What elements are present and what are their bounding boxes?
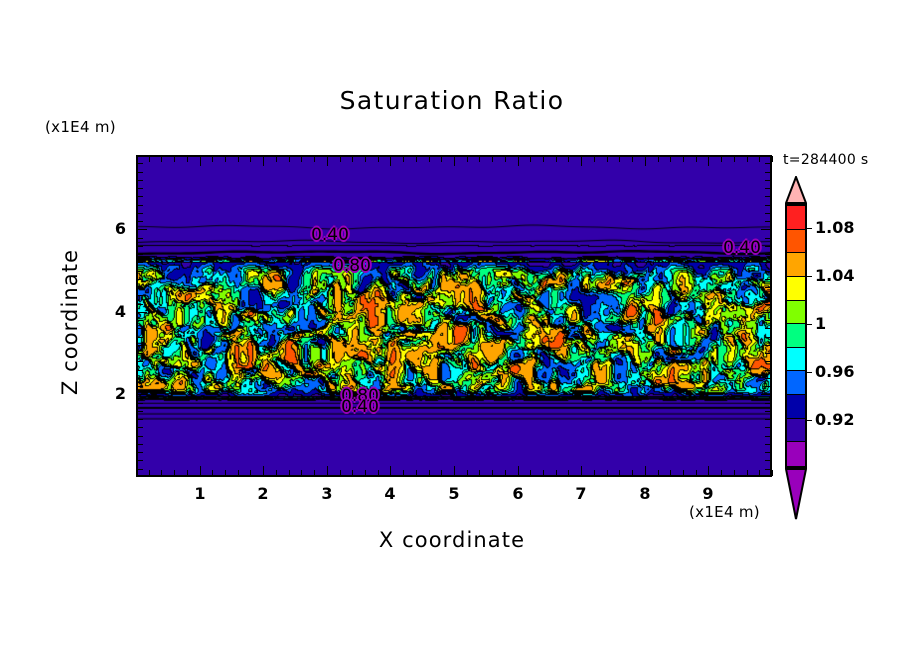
tick-x-minor — [174, 470, 175, 476]
tick-x-minor — [772, 470, 773, 476]
tick-y-minor — [137, 221, 143, 222]
tick-x-major — [708, 156, 709, 166]
tick-y-major — [137, 229, 147, 230]
tick-y-minor — [137, 469, 143, 470]
tick-x-minor — [301, 470, 302, 476]
tick-y-minor — [765, 403, 771, 404]
tick-y-minor — [137, 460, 143, 461]
tick-y-minor — [137, 295, 143, 296]
tick-y-minor — [137, 444, 143, 445]
tick-x-minor — [479, 470, 480, 476]
tick-x-minor — [721, 156, 722, 162]
tick-x-minor — [530, 156, 531, 162]
tick-x-major — [390, 156, 391, 166]
tick-y-minor — [765, 361, 771, 362]
tick-y-minor — [765, 386, 771, 387]
tick-x-minor — [403, 156, 404, 162]
tick-y-major — [761, 312, 771, 313]
tick-y-minor — [765, 419, 771, 420]
tick-y-minor — [137, 328, 143, 329]
tick-x-minor — [225, 156, 226, 162]
x-tick-label: 2 — [248, 484, 278, 503]
tick-x-minor — [683, 156, 684, 162]
tick-y-minor — [765, 337, 771, 338]
tick-y-minor — [765, 295, 771, 296]
tick-x-minor — [632, 156, 633, 162]
tick-x-minor — [658, 156, 659, 162]
tick-y-minor — [765, 262, 771, 263]
x-axis-unit-label: (x1E4 m) — [689, 503, 760, 521]
tick-x-major — [645, 466, 646, 476]
tick-x-minor — [619, 156, 620, 162]
tick-y-minor — [137, 353, 143, 354]
tick-x-minor — [416, 470, 417, 476]
tick-x-minor — [161, 156, 162, 162]
x-tick-label: 6 — [503, 484, 533, 503]
y-tick-label: 4 — [96, 302, 126, 321]
x-axis-title: X coordinate — [0, 528, 904, 552]
tick-y-minor — [765, 246, 771, 247]
tick-y-minor — [137, 345, 143, 346]
tick-y-minor — [765, 320, 771, 321]
tick-x-minor — [670, 156, 671, 162]
colorbar-band — [787, 277, 805, 301]
tick-x-minor — [429, 156, 430, 162]
tick-x-minor — [759, 470, 760, 476]
tick-y-minor — [765, 345, 771, 346]
tick-x-minor — [187, 156, 188, 162]
tick-y-minor — [765, 271, 771, 272]
tick-y-minor — [765, 254, 771, 255]
tick-x-minor — [556, 470, 557, 476]
tick-x-minor — [314, 156, 315, 162]
tick-y-minor — [137, 452, 143, 453]
tick-x-minor — [530, 470, 531, 476]
tick-y-major — [137, 394, 147, 395]
colorbar-band — [787, 419, 805, 443]
page-title: Saturation Ratio — [0, 86, 904, 115]
tick-x-minor — [378, 470, 379, 476]
x-tick-label: 3 — [312, 484, 342, 503]
tick-x-major — [518, 466, 519, 476]
tick-y-major — [761, 229, 771, 230]
tick-x-minor — [568, 156, 569, 162]
tick-x-minor — [212, 156, 213, 162]
tick-y-minor — [765, 328, 771, 329]
tick-x-minor — [696, 470, 697, 476]
tick-y-minor — [137, 419, 143, 420]
y-tick-label: 6 — [96, 219, 126, 238]
x-tick-label: 9 — [693, 484, 723, 503]
tick-y-minor — [765, 378, 771, 379]
tick-x-minor — [276, 156, 277, 162]
contour-label: 0.80 — [333, 256, 371, 276]
tick-x-minor — [479, 156, 480, 162]
x-tick-label: 1 — [185, 484, 215, 503]
tick-x-minor — [352, 156, 353, 162]
tick-x-minor — [568, 470, 569, 476]
colorbar-band — [787, 395, 805, 419]
colorbar-label: 1.04 — [815, 266, 854, 285]
tick-y-minor — [765, 287, 771, 288]
tick-x-minor — [721, 470, 722, 476]
tick-x-major — [200, 466, 201, 476]
tick-x-minor — [467, 470, 468, 476]
tick-x-minor — [505, 470, 506, 476]
tick-y-minor — [137, 403, 143, 404]
tick-x-minor — [441, 156, 442, 162]
tick-x-minor — [340, 156, 341, 162]
tick-x-minor — [543, 470, 544, 476]
tick-y-minor — [137, 378, 143, 379]
tick-y-minor — [765, 213, 771, 214]
tick-x-minor — [747, 470, 748, 476]
colorbar-tick — [807, 372, 812, 373]
tick-y-minor — [137, 254, 143, 255]
tick-y-minor — [765, 452, 771, 453]
tick-y-minor — [765, 469, 771, 470]
tick-y-minor — [137, 213, 143, 214]
tick-y-minor — [137, 361, 143, 362]
tick-y-minor — [765, 460, 771, 461]
tick-y-minor — [137, 271, 143, 272]
tick-x-minor — [352, 470, 353, 476]
tick-y-minor — [765, 238, 771, 239]
tick-x-minor — [734, 470, 735, 476]
tick-x-major — [263, 466, 264, 476]
tick-x-major — [327, 466, 328, 476]
y-axis-unit-label: (x1E4 m) — [45, 118, 116, 136]
tick-x-minor — [772, 156, 773, 162]
tick-y-minor — [137, 262, 143, 263]
tick-x-minor — [225, 470, 226, 476]
tick-x-minor — [378, 156, 379, 162]
time-annotation: t=284400 s — [783, 152, 868, 168]
tick-x-minor — [161, 470, 162, 476]
tick-y-minor — [137, 196, 143, 197]
tick-y-minor — [137, 180, 143, 181]
tick-y-minor — [137, 287, 143, 288]
tick-y-minor — [137, 436, 143, 437]
tick-y-minor — [765, 163, 771, 164]
tick-x-major — [581, 156, 582, 166]
x-tick-label: 4 — [375, 484, 405, 503]
tick-x-minor — [505, 156, 506, 162]
tick-x-minor — [365, 156, 366, 162]
tick-x-minor — [238, 156, 239, 162]
colorbar-tick — [807, 420, 812, 421]
tick-x-minor — [747, 156, 748, 162]
x-tick-label: 8 — [630, 484, 660, 503]
tick-y-major — [137, 312, 147, 313]
colorbar-tick — [807, 228, 812, 229]
tick-x-minor — [607, 470, 608, 476]
tick-x-minor — [301, 156, 302, 162]
tick-x-minor — [212, 470, 213, 476]
colorbar-label: 1.08 — [815, 218, 854, 237]
tick-y-minor — [137, 163, 143, 164]
tick-x-minor — [734, 156, 735, 162]
tick-x-minor — [607, 156, 608, 162]
tick-x-minor — [670, 470, 671, 476]
tick-x-minor — [632, 470, 633, 476]
colorbar-band — [787, 442, 805, 466]
tick-x-minor — [441, 470, 442, 476]
tick-y-minor — [765, 196, 771, 197]
colorbar-cap-top — [785, 176, 807, 204]
tick-x-minor — [289, 156, 290, 162]
tick-y-minor — [765, 444, 771, 445]
contour-label: 0.40 — [341, 397, 379, 417]
tick-y-minor — [765, 221, 771, 222]
tick-x-minor — [543, 156, 544, 162]
tick-y-minor — [765, 279, 771, 280]
y-tick-label: 2 — [96, 384, 126, 403]
colorbar-tick — [807, 276, 812, 277]
tick-x-minor — [187, 470, 188, 476]
tick-y-minor — [137, 411, 143, 412]
x-tick-label: 7 — [566, 484, 596, 503]
tick-x-minor — [556, 156, 557, 162]
tick-y-minor — [137, 320, 143, 321]
tick-y-minor — [137, 304, 143, 305]
tick-x-major — [581, 466, 582, 476]
colorbar-label: 1 — [815, 314, 826, 333]
tick-x-minor — [696, 156, 697, 162]
colorbar-band — [787, 230, 805, 254]
tick-x-minor — [492, 156, 493, 162]
colorbar-label: 0.96 — [815, 362, 854, 381]
tick-x-minor — [683, 470, 684, 476]
tick-x-minor — [289, 470, 290, 476]
tick-x-major — [645, 156, 646, 166]
figure-canvas: Saturation Ratio (x1E4 m) (x1E4 m) t=284… — [0, 0, 904, 654]
tick-y-minor — [137, 370, 143, 371]
tick-x-major — [518, 156, 519, 166]
tick-x-major — [327, 156, 328, 166]
tick-x-minor — [619, 470, 620, 476]
x-tick-label: 5 — [439, 484, 469, 503]
tick-x-minor — [149, 470, 150, 476]
tick-y-minor — [137, 279, 143, 280]
colorbar-band — [787, 348, 805, 372]
tick-x-minor — [340, 470, 341, 476]
tick-y-major — [761, 394, 771, 395]
tick-y-minor — [765, 304, 771, 305]
contour-label: 0.40 — [311, 225, 349, 245]
tick-y-minor — [765, 436, 771, 437]
colorbar-tick — [807, 324, 812, 325]
tick-y-minor — [137, 238, 143, 239]
tick-y-minor — [765, 370, 771, 371]
contour-label: 0.40 — [723, 238, 761, 258]
tick-x-minor — [174, 156, 175, 162]
colorbar-band — [787, 371, 805, 395]
tick-y-minor — [765, 172, 771, 173]
tick-x-minor — [149, 156, 150, 162]
tick-x-minor — [276, 470, 277, 476]
contour-field — [138, 157, 770, 475]
tick-x-major — [454, 466, 455, 476]
tick-x-major — [390, 466, 391, 476]
tick-y-minor — [137, 205, 143, 206]
tick-x-minor — [403, 470, 404, 476]
tick-x-minor — [594, 470, 595, 476]
tick-x-minor — [250, 156, 251, 162]
colorbar-band — [787, 324, 805, 348]
tick-y-minor — [765, 180, 771, 181]
tick-y-minor — [137, 246, 143, 247]
colorbar — [785, 204, 807, 468]
tick-x-minor — [492, 470, 493, 476]
tick-x-minor — [238, 470, 239, 476]
tick-y-minor — [765, 427, 771, 428]
tick-x-minor — [467, 156, 468, 162]
y-axis-title: Z coordinate — [58, 222, 82, 422]
tick-y-minor — [765, 411, 771, 412]
tick-x-minor — [429, 470, 430, 476]
tick-x-major — [708, 466, 709, 476]
tick-x-minor — [416, 156, 417, 162]
tick-y-minor — [765, 353, 771, 354]
tick-y-minor — [765, 205, 771, 206]
colorbar-band — [787, 253, 805, 277]
tick-x-minor — [365, 470, 366, 476]
tick-x-minor — [658, 470, 659, 476]
colorbar-band — [787, 206, 805, 230]
tick-y-minor — [137, 386, 143, 387]
tick-x-major — [454, 156, 455, 166]
tick-y-minor — [137, 172, 143, 173]
tick-x-minor — [314, 470, 315, 476]
tick-x-major — [200, 156, 201, 166]
tick-y-minor — [765, 188, 771, 189]
tick-y-minor — [137, 188, 143, 189]
tick-x-major — [263, 156, 264, 166]
colorbar-label: 0.92 — [815, 410, 854, 429]
tick-y-minor — [137, 337, 143, 338]
contour-plot-panel — [136, 155, 772, 477]
tick-x-minor — [250, 470, 251, 476]
colorbar-cap-bottom — [785, 468, 807, 520]
tick-y-minor — [137, 427, 143, 428]
tick-x-minor — [759, 156, 760, 162]
tick-x-minor — [594, 156, 595, 162]
colorbar-band — [787, 301, 805, 325]
